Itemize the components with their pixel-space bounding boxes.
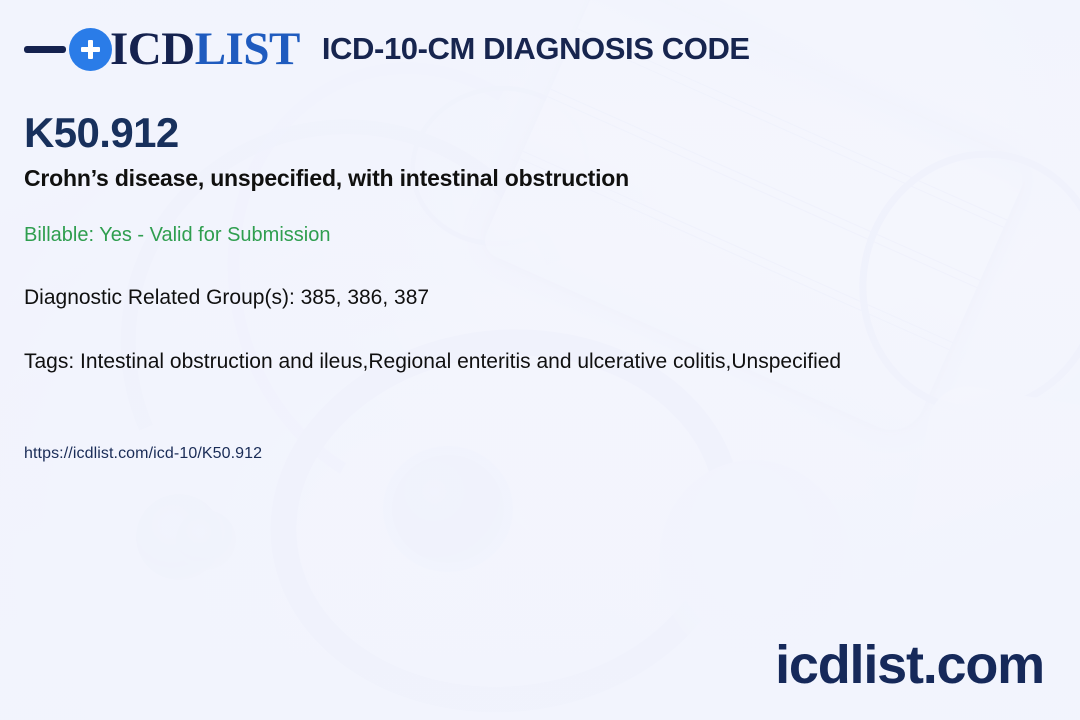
source-url[interactable]: https://icdlist.com/icd-10/K50.912 — [24, 445, 262, 463]
footer-brand: icdlist.com — [775, 638, 1044, 692]
logo-word-icd: ICD — [110, 23, 195, 75]
header: ICDLIST ICD-10-CM DIAGNOSIS CODE — [24, 26, 750, 73]
logo-word-list: LIST — [195, 23, 300, 75]
dash-icon — [24, 46, 66, 53]
billable-status: Billable: Yes - Valid for Submission — [24, 224, 330, 247]
plus-icon — [81, 40, 100, 59]
diagnostic-related-groups: Diagnostic Related Group(s): 385, 386, 3… — [24, 286, 429, 310]
diagnosis-description: Crohn’s disease, unspecified, with intes… — [24, 165, 629, 192]
diagnosis-code: K50.912 — [24, 110, 179, 156]
icd-code-card: ICDLIST ICD-10-CM DIAGNOSIS CODE K50.912… — [0, 0, 1080, 720]
tags-line: Tags: Intestinal obstruction and ileus,R… — [24, 350, 841, 374]
page-title: ICD-10-CM DIAGNOSIS CODE — [322, 31, 750, 69]
icdlist-logo[interactable]: ICDLIST — [24, 26, 300, 73]
plus-circle-icon — [69, 28, 112, 71]
logo-wordmark: ICDLIST — [110, 26, 300, 73]
